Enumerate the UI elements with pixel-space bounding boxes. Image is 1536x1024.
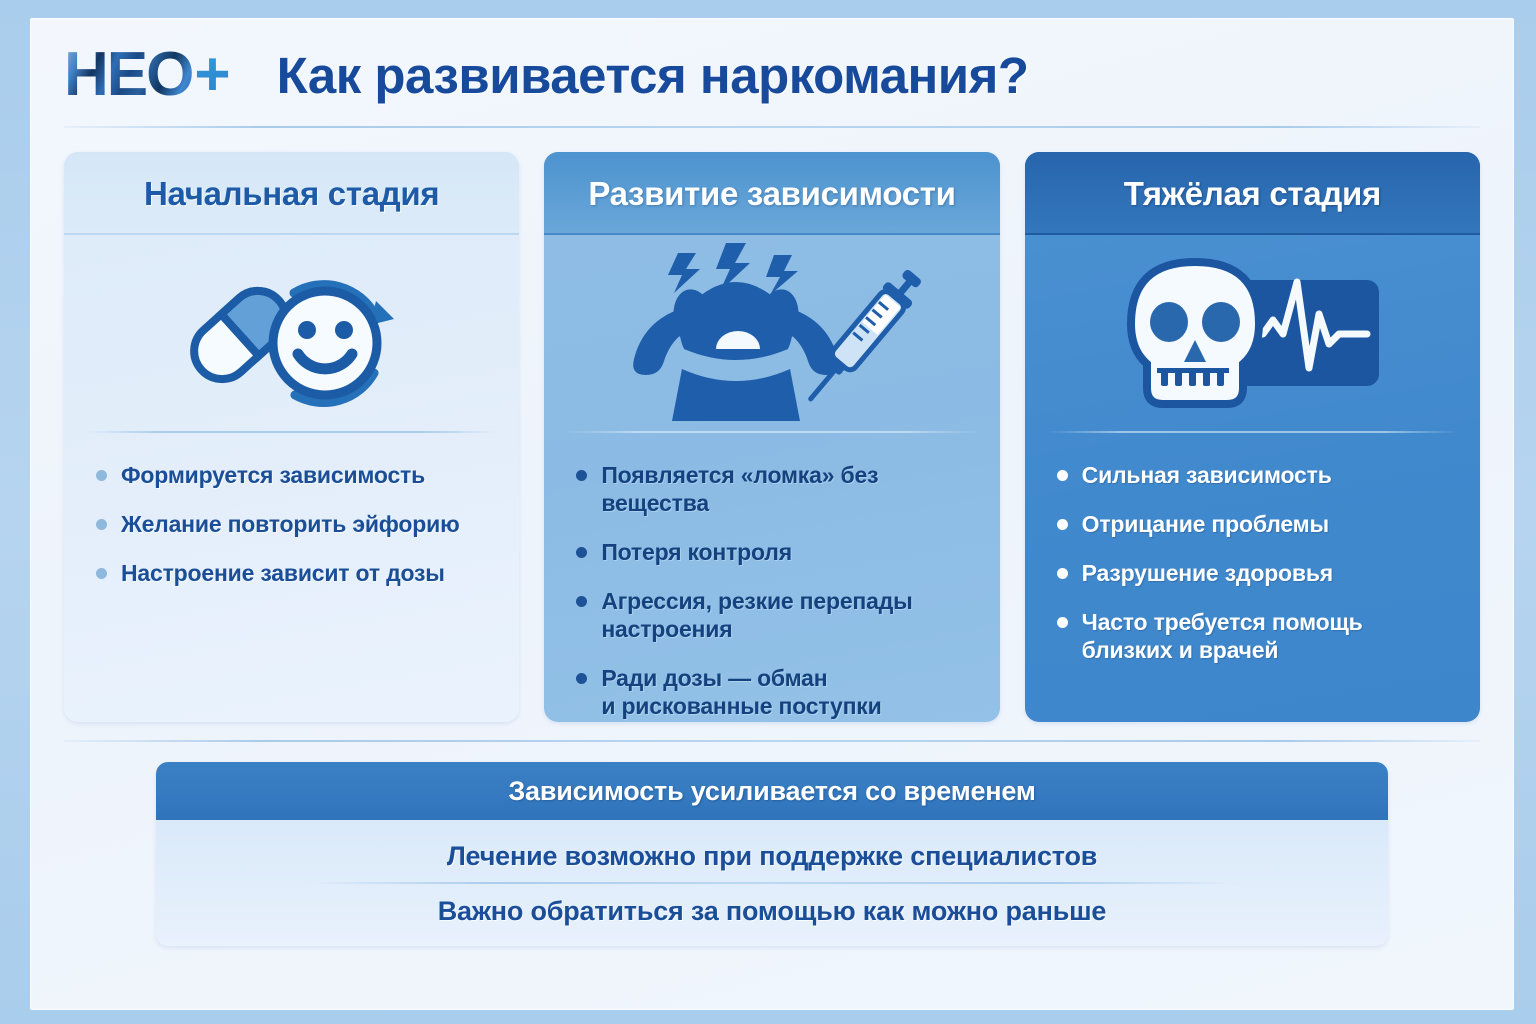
stage-card-body: Сильная зависимость Отрицание проблемы Р…	[1025, 235, 1480, 722]
bullet-text: Настроение зависит от дозы	[121, 559, 445, 587]
header-divider	[64, 126, 1480, 128]
bullet-dot-icon	[576, 673, 587, 684]
summary-panel-header: Зависимость усиливается со временем	[156, 762, 1388, 820]
stage-card-title: Развитие зависимости	[588, 175, 955, 213]
logo-wordmark: НЕО	[64, 44, 192, 106]
bullet-text: Формируется зависимость	[121, 461, 425, 489]
stage-bullet-list: Формируется зависимость Желание повторит…	[64, 433, 519, 722]
bullet-dot-icon	[96, 470, 107, 481]
list-item: Настроение зависит от дозы	[96, 559, 495, 587]
stage-card-developing: Развитие зависимости	[544, 152, 999, 722]
stage-card-header: Тяжёлая стадия	[1025, 152, 1480, 235]
list-item: Отрицание проблемы	[1057, 510, 1456, 538]
stage-bullet-list: Появляется «ломка» без вещества Потеря к…	[544, 433, 999, 722]
footer-section: Зависимость усиливается со временем Лече…	[64, 722, 1480, 1010]
pill-smiley-cycle-icon	[64, 235, 519, 431]
summary-line-1: Лечение возможно при поддержке специалис…	[156, 820, 1388, 882]
list-item: Ради дозы — обман и рискованные поступки	[576, 664, 975, 720]
stage-card-severe: Тяжёлая стадия	[1025, 152, 1480, 722]
stage-card-header: Начальная стадия	[64, 152, 519, 235]
stage-card-body: Появляется «ломка» без вещества Потеря к…	[544, 235, 999, 722]
list-item: Сильная зависимость	[1057, 461, 1456, 489]
list-item: Агрессия, резкие перепады настроения	[576, 587, 975, 643]
bullet-text: Ради дозы — обман и рискованные поступки	[601, 664, 881, 720]
bullet-dot-icon	[96, 568, 107, 579]
bullet-dot-icon	[576, 596, 587, 607]
summary-heading: Зависимость усиливается со временем	[508, 776, 1035, 807]
bullet-text: Появляется «ломка» без вещества	[601, 461, 975, 517]
list-item: Разрушение здоровья	[1057, 559, 1456, 587]
stage-card-header: Развитие зависимости	[544, 152, 999, 235]
stage-card-body: Формируется зависимость Желание повторит…	[64, 235, 519, 722]
bullet-dot-icon	[576, 547, 587, 558]
page-title: Как развивается наркомания?	[277, 46, 1029, 105]
bullet-dot-icon	[1057, 568, 1068, 579]
bullet-text: Разрушение здоровья	[1082, 559, 1333, 587]
stages-row: Начальная стадия	[64, 152, 1480, 722]
skull-ecg-icon	[1025, 235, 1480, 431]
bullet-text: Агрессия, резкие перепады настроения	[601, 587, 975, 643]
bullet-dot-icon	[1057, 617, 1068, 628]
list-item: Появляется «ломка» без вещества	[576, 461, 975, 517]
list-item: Часто требуется помощь близких и врачей	[1057, 608, 1456, 664]
stage-card-title: Начальная стадия	[144, 175, 439, 213]
stressed-person-syringe-icon	[544, 235, 999, 431]
brand-logo: НЕО +	[64, 44, 231, 106]
stage-bullet-list: Сильная зависимость Отрицание проблемы Р…	[1025, 433, 1480, 722]
bullet-text: Потеря контроля	[601, 538, 792, 566]
stage-card-title: Тяжёлая стадия	[1124, 175, 1381, 213]
footer-top-divider	[64, 740, 1480, 742]
summary-line-2: Важно обратиться за помощью как можно ра…	[156, 884, 1388, 946]
page-canvas: НЕО + Как развивается наркомания? Началь…	[30, 18, 1514, 1010]
bullet-text: Отрицание проблемы	[1082, 510, 1329, 538]
bullet-text: Часто требуется помощь близких и врачей	[1082, 608, 1363, 664]
list-item: Желание повторить эйфорию	[96, 510, 495, 538]
bullet-text: Желание повторить эйфорию	[121, 510, 460, 538]
bullet-dot-icon	[96, 519, 107, 530]
list-item: Формируется зависимость	[96, 461, 495, 489]
logo-plus-icon: +	[194, 44, 230, 106]
bullet-dot-icon	[1057, 519, 1068, 530]
bullet-dot-icon	[576, 470, 587, 481]
header: НЕО + Как развивается наркомания?	[64, 18, 1480, 126]
bullet-text: Сильная зависимость	[1082, 461, 1332, 489]
stage-card-initial: Начальная стадия	[64, 152, 519, 722]
summary-panel: Зависимость усиливается со временем Лече…	[156, 762, 1388, 946]
infographic-poster: НЕО + Как развивается наркомания? Началь…	[0, 0, 1536, 1024]
bullet-dot-icon	[1057, 470, 1068, 481]
list-item: Потеря контроля	[576, 538, 975, 566]
